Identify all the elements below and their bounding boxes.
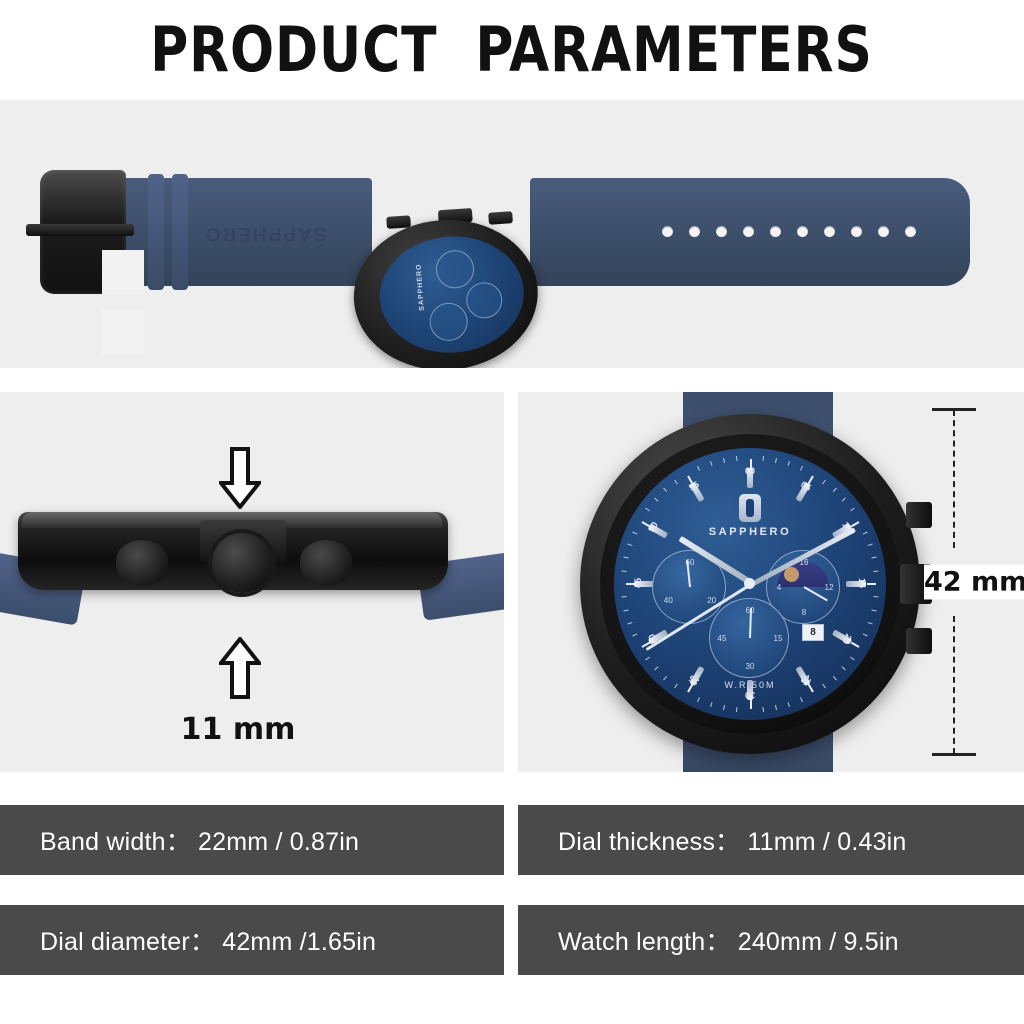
side-profile-illustration: 11 mm bbox=[0, 392, 504, 772]
subdial-numeral: 40 bbox=[661, 596, 675, 605]
buckle-pin bbox=[26, 224, 134, 236]
minute-tick bbox=[627, 544, 632, 546]
minute-tick bbox=[833, 488, 837, 492]
hour-marker bbox=[747, 468, 753, 488]
minute-tick bbox=[850, 656, 855, 660]
strap-keeper-loop-1 bbox=[148, 174, 164, 290]
spec-dial-thickness: Dial thickness： 11mm / 0.43in bbox=[518, 805, 1024, 875]
minute-tick bbox=[850, 641, 859, 647]
minute-tick bbox=[822, 684, 826, 689]
watch-case-front: 051015202530354045505560 SAPPHERO 602040… bbox=[580, 414, 920, 754]
minute-tick bbox=[822, 479, 826, 484]
minute-tick bbox=[863, 531, 868, 534]
minute-tick bbox=[736, 456, 738, 461]
minute-tick bbox=[873, 596, 878, 598]
minute-tick bbox=[723, 705, 725, 710]
pusher-left bbox=[116, 540, 168, 586]
subdial-numeral: 15 bbox=[771, 634, 785, 643]
product-parameters-infographic: PRODUCT PARAMETERS SAPPHERO SAPPHE bbox=[0, 0, 1024, 1024]
minute-tick bbox=[674, 684, 678, 689]
spec-dial-diameter: Dial diameter： 42mm /1.65in bbox=[0, 905, 504, 975]
dimension-label-thickness-wrap: 11 mm bbox=[0, 712, 504, 747]
subdial-numeral: 4 bbox=[772, 583, 786, 592]
watch-case-flat: SAPPHERO bbox=[349, 214, 543, 368]
water-resistance-text: W.R 50M bbox=[724, 680, 775, 690]
minute-tick bbox=[654, 497, 658, 501]
page-title-bar: PRODUCT PARAMETERS bbox=[0, 0, 1024, 98]
minute-tick bbox=[622, 596, 627, 598]
minute-tick bbox=[736, 707, 738, 712]
minute-tick bbox=[800, 466, 803, 471]
dimension-label-diameter: 42 mm bbox=[924, 565, 1024, 600]
pusher-front-bottom bbox=[906, 628, 932, 654]
subdial-flat-1 bbox=[435, 249, 476, 290]
strap-hole bbox=[662, 226, 673, 237]
minute-tick bbox=[624, 609, 629, 611]
pusher-top-right-icon bbox=[488, 211, 513, 225]
hour-marker bbox=[846, 581, 866, 587]
dimension-dial-diameter: 42 mm bbox=[930, 400, 1000, 764]
subdial-numeral: 12 bbox=[822, 583, 836, 592]
minute-tick bbox=[800, 697, 803, 702]
minute-tick bbox=[710, 461, 712, 466]
panel-side-profile: 11 mm bbox=[0, 392, 504, 772]
strap-hole bbox=[770, 226, 781, 237]
strap-hole bbox=[851, 226, 862, 237]
flat-watch-illustration: SAPPHERO SAPPHERO bbox=[0, 100, 1024, 368]
date-window: 8 bbox=[802, 624, 824, 641]
minute-tick bbox=[850, 508, 855, 512]
hands-center-cap bbox=[744, 578, 755, 589]
minute-tick bbox=[663, 676, 667, 680]
minute-tick bbox=[697, 697, 700, 702]
watch-dial-front: 051015202530354045505560 SAPPHERO 602040… bbox=[614, 448, 886, 720]
watch-bezel-front: 051015202530354045505560 SAPPHERO 602040… bbox=[600, 434, 900, 734]
minute-tick bbox=[842, 667, 846, 671]
dimension-label-thickness: 11 mm bbox=[181, 712, 296, 747]
brand-logo-icon bbox=[739, 494, 761, 522]
strap-hole bbox=[716, 226, 727, 237]
dimension-line-bottom bbox=[953, 616, 955, 754]
strap-keeper-loop-2 bbox=[172, 174, 188, 290]
minute-tick bbox=[750, 700, 752, 709]
strap-hole bbox=[824, 226, 835, 237]
dial-brand-flat: SAPPHERO bbox=[416, 270, 431, 311]
subdial-bottom: 60153045 bbox=[709, 598, 789, 678]
strap-hole bbox=[797, 226, 808, 237]
minute-tick bbox=[663, 488, 667, 492]
minute-tick bbox=[788, 461, 790, 466]
minute-tick bbox=[710, 702, 712, 707]
buckle-frame-opening-bottom bbox=[102, 310, 144, 354]
strap-hole bbox=[878, 226, 889, 237]
strap-hole bbox=[689, 226, 700, 237]
minute-tick bbox=[674, 479, 678, 484]
minute-tick bbox=[871, 609, 876, 611]
arrow-down-glyph bbox=[219, 447, 261, 509]
subdial-numeral: 30 bbox=[743, 662, 757, 671]
hour-marker bbox=[634, 581, 654, 587]
minute-tick bbox=[697, 466, 700, 471]
minute-tick bbox=[622, 570, 627, 572]
minute-tick bbox=[762, 456, 764, 461]
minute-tick bbox=[645, 656, 650, 660]
minute-tick bbox=[868, 544, 873, 546]
minute-tick bbox=[833, 676, 837, 680]
minute-tick bbox=[871, 557, 876, 559]
dimension-line-top bbox=[953, 410, 955, 548]
subdial-flat-2 bbox=[465, 281, 503, 319]
subdial-hand bbox=[749, 608, 752, 638]
panel-flat-watch: SAPPHERO SAPPHERO bbox=[0, 100, 1024, 368]
minute-tick bbox=[842, 497, 846, 501]
minute-tick bbox=[873, 570, 878, 572]
subdial-flat-3 bbox=[428, 302, 469, 343]
watch-head-flat: SAPPHERO bbox=[343, 213, 549, 368]
spec-watch-length: Watch length： 240mm / 9.5in bbox=[518, 905, 1024, 975]
minute-tick bbox=[867, 583, 876, 585]
minute-tick bbox=[645, 508, 650, 512]
minute-tick bbox=[775, 458, 777, 463]
minute-tick bbox=[868, 622, 873, 624]
minute-tick bbox=[723, 458, 725, 463]
minute-tick bbox=[632, 531, 637, 534]
minute-tick bbox=[762, 707, 764, 712]
strap-hole bbox=[905, 226, 916, 237]
strap-hole bbox=[743, 226, 754, 237]
watch-dial-flat: SAPPHERO bbox=[376, 232, 528, 358]
crown bbox=[212, 533, 272, 593]
minute-tick bbox=[632, 634, 637, 637]
arrow-up-glyph bbox=[219, 637, 261, 699]
minute-tick bbox=[788, 702, 790, 707]
minute-tick bbox=[775, 705, 777, 710]
minute-tick bbox=[654, 667, 658, 671]
page-title: PRODUCT PARAMETERS bbox=[151, 13, 874, 86]
pusher-front-top bbox=[906, 502, 932, 528]
dial-brand-name: SAPPHERO bbox=[709, 526, 792, 538]
buckle-frame-opening-top bbox=[102, 250, 144, 294]
subdial-numeral: 45 bbox=[715, 634, 729, 643]
pusher-right bbox=[300, 540, 352, 586]
minute-tick bbox=[627, 622, 632, 624]
strap-emboss-text: SAPPHERO bbox=[195, 220, 335, 244]
arrow-down-icon bbox=[219, 447, 261, 509]
arrow-up-icon bbox=[219, 637, 261, 699]
minute-tick bbox=[863, 634, 868, 637]
spec-band-width: Band width： 22mm / 0.87in bbox=[0, 805, 504, 875]
subdial-numeral: 8 bbox=[797, 608, 811, 617]
minute-tick bbox=[808, 684, 814, 693]
minute-tick bbox=[624, 557, 629, 559]
